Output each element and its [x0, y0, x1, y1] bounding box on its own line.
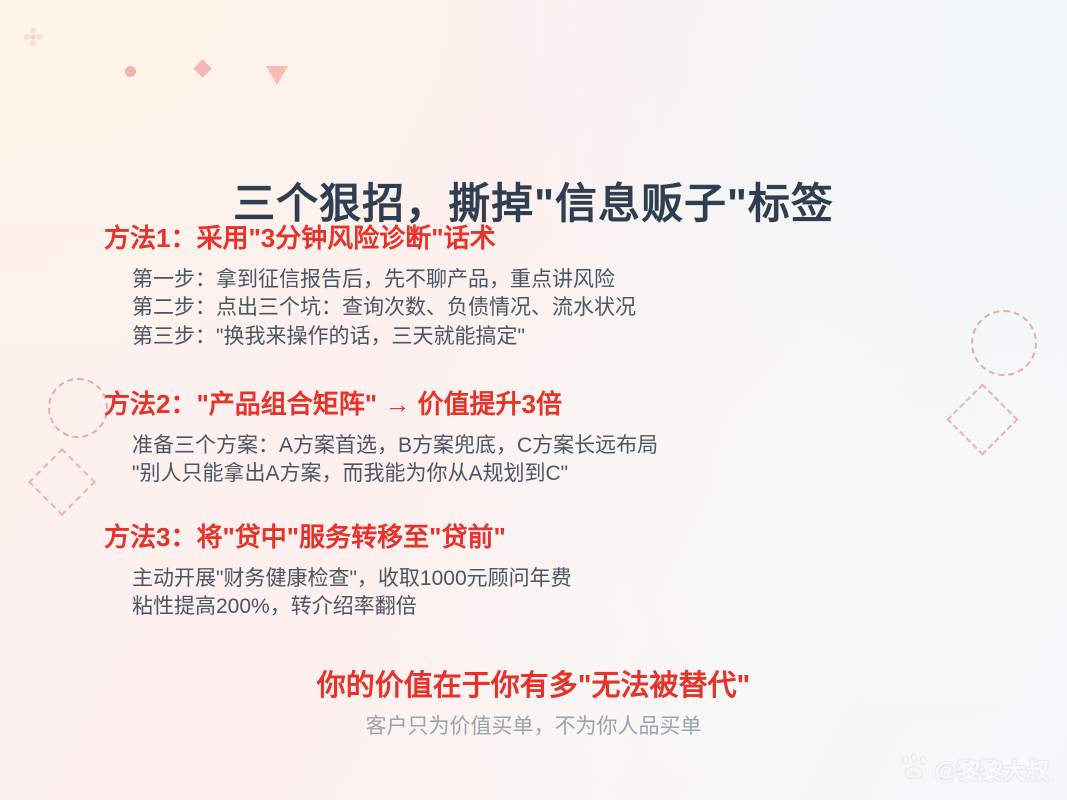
method-1-lines: 第一步：拿到征信报告后，先不聊产品，重点讲风险 第二步：点出三个坑：查询次数、负…: [104, 266, 636, 352]
baidu-logo-text: du: [909, 771, 918, 778]
baidu-paw-icon: du: [900, 753, 930, 785]
dashed-circle-decoration-left: [48, 378, 108, 438]
method-block-1: 方法1：采用"3分钟风险诊断"话术 第一步：拿到征信报告后，先不聊产品，重点讲风…: [104, 222, 636, 351]
flower-icon: [22, 26, 44, 48]
footer-subtext: 客户只为价值买单，不为你人品买单: [0, 710, 1067, 740]
method-2-heading: 方法2："产品组合矩阵" → 价值提升3倍: [104, 388, 658, 421]
method-3-lines: 主动开展"财务健康检查"，收取1000元顾问年费 粘性提高200%，转介绍率翻倍: [104, 565, 572, 622]
method-1-line-1: 第一步：拿到征信报告后，先不聊产品，重点讲风险: [132, 266, 636, 295]
method-2-line-2: "别人只能拿出A方案，而我能为你从A规划到C": [132, 460, 658, 489]
watermark: du @黎黎大叔: [900, 752, 1049, 786]
watermark-handle: @黎黎大叔: [935, 752, 1049, 786]
poster-canvas: 三个狠招，撕掉"信息贩子"标签 方法1：采用"3分钟风险诊断"话术 第一步：拿到…: [0, 0, 1067, 800]
dashed-square-decoration-left: [28, 448, 96, 516]
dot-decoration: [125, 66, 136, 77]
footer-headline: 你的价值在于你有多"无法被替代": [0, 662, 1067, 704]
method-1-line-3: 第三步："换我来操作的话，三天就能搞定": [132, 323, 636, 352]
diamond-decoration: [193, 59, 211, 77]
triangle-decoration: [266, 66, 288, 85]
dot-decoration-small: [198, 64, 205, 71]
method-block-3: 方法3：将"贷中"服务转移至"贷前" 主动开展"财务健康检查"，收取1000元顾…: [104, 521, 572, 622]
dashed-circle-decoration-right: [971, 310, 1037, 376]
method-3-line-2: 粘性提高200%，转介绍率翻倍: [132, 593, 572, 622]
method-block-2: 方法2："产品组合矩阵" → 价值提升3倍 准备三个方案：A方案首选，B方案兜底…: [104, 388, 658, 489]
dashed-square-decoration-right: [946, 383, 1018, 455]
method-1-line-2: 第二步：点出三个坑：查询次数、负债情况、流水状况: [132, 294, 636, 323]
method-3-line-1: 主动开展"财务健康检查"，收取1000元顾问年费: [132, 565, 572, 594]
method-2-line-1: 准备三个方案：A方案首选，B方案兜底，C方案长远布局: [132, 432, 658, 461]
method-1-heading: 方法1：采用"3分钟风险诊断"话术: [104, 222, 636, 255]
method-2-lines: 准备三个方案：A方案首选，B方案兜底，C方案长远布局 "别人只能拿出A方案，而我…: [104, 432, 658, 489]
method-3-heading: 方法3：将"贷中"服务转移至"贷前": [104, 521, 572, 554]
